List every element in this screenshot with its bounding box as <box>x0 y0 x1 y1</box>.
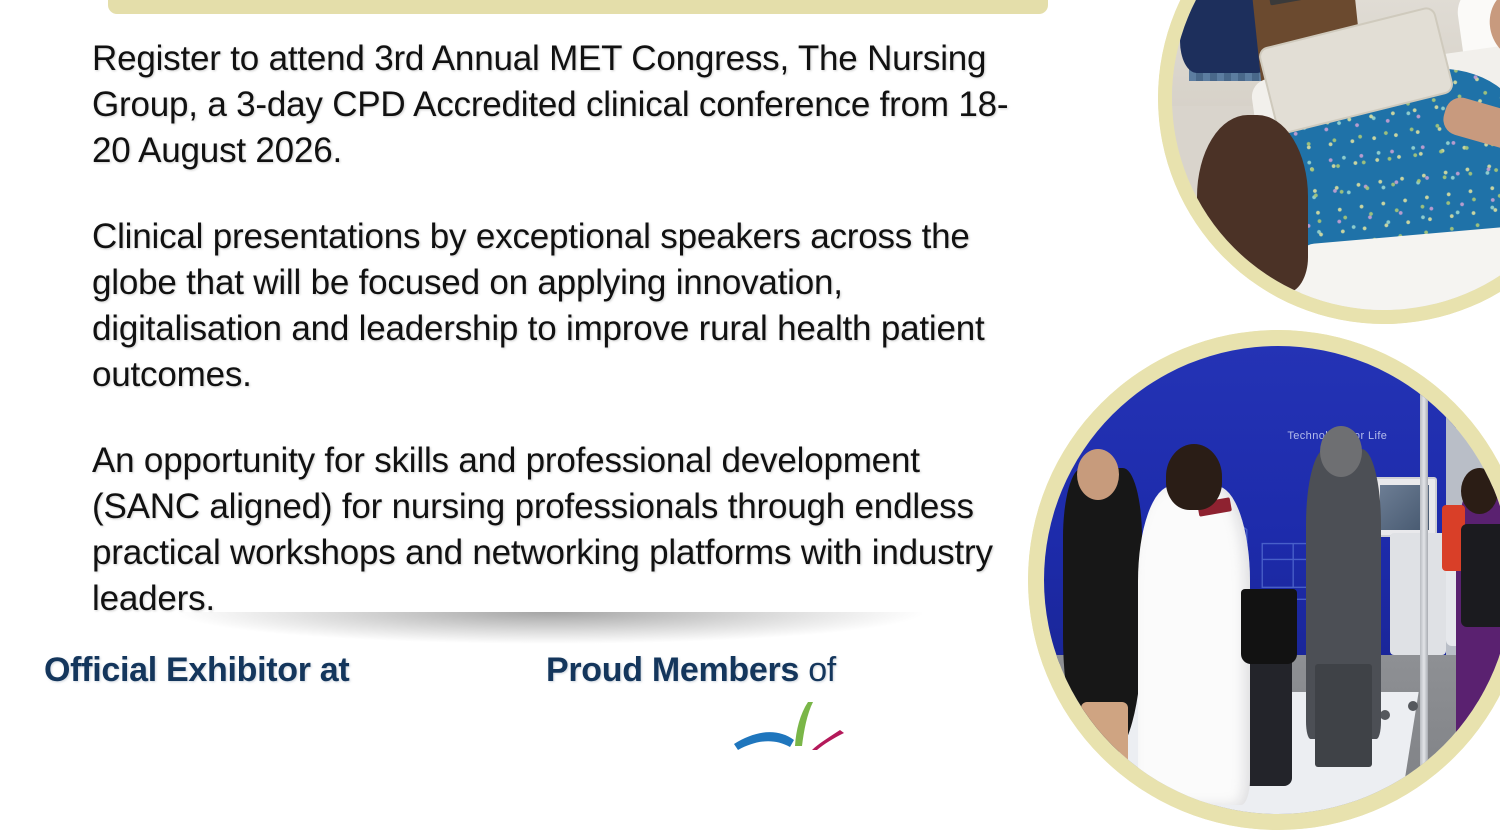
delegate-black-dress-head <box>1077 449 1119 500</box>
top-accent-bar <box>108 0 1048 14</box>
proud-members-light: of <box>808 651 836 689</box>
partner-logo <box>716 700 891 750</box>
delegate-suit-legs <box>1315 664 1371 767</box>
handbag <box>1241 589 1297 664</box>
exhibition-booth-photo: Technology for Life <box>1028 330 1500 830</box>
proud-members-bold: Proud Members <box>546 651 799 689</box>
proud-members-heading: Proud Members of <box>546 648 836 692</box>
delegate-black-dress-legs <box>1081 702 1128 805</box>
backpack <box>1461 524 1500 627</box>
swoosh-logo-icon <box>716 700 891 750</box>
delegate-suit-head <box>1320 426 1362 477</box>
student-figure <box>1197 115 1307 293</box>
exhibition-scene: Technology for Life <box>1044 346 1500 814</box>
nurse-delegate-head <box>1166 444 1222 510</box>
medical-cart <box>1390 533 1446 655</box>
delegate-backpack-head <box>1461 468 1498 515</box>
official-exhibitor-heading: Official Exhibitor at <box>44 648 349 692</box>
paragraph-clinical-presentations: Clinical presentations by exceptional sp… <box>92 214 1022 398</box>
exhibition-booth-image: Technology for Life <box>1044 346 1500 814</box>
paragraph-skills-development: An opportunity for skills and profession… <box>92 438 1022 622</box>
simulation-scene <box>1172 0 1500 310</box>
simulation-lab-image <box>1172 0 1500 310</box>
simulation-lab-photo <box>1158 0 1500 324</box>
nurse-delegate-white-uniform <box>1138 486 1250 804</box>
footer-headings: Official Exhibitor at Proud Members of <box>40 648 1000 708</box>
paragraph-register: Register to attend 3rd Annual MET Congre… <box>92 36 1022 174</box>
booth-support-pole <box>1420 383 1427 785</box>
body-copy: Register to attend 3rd Annual MET Congre… <box>92 36 1022 622</box>
